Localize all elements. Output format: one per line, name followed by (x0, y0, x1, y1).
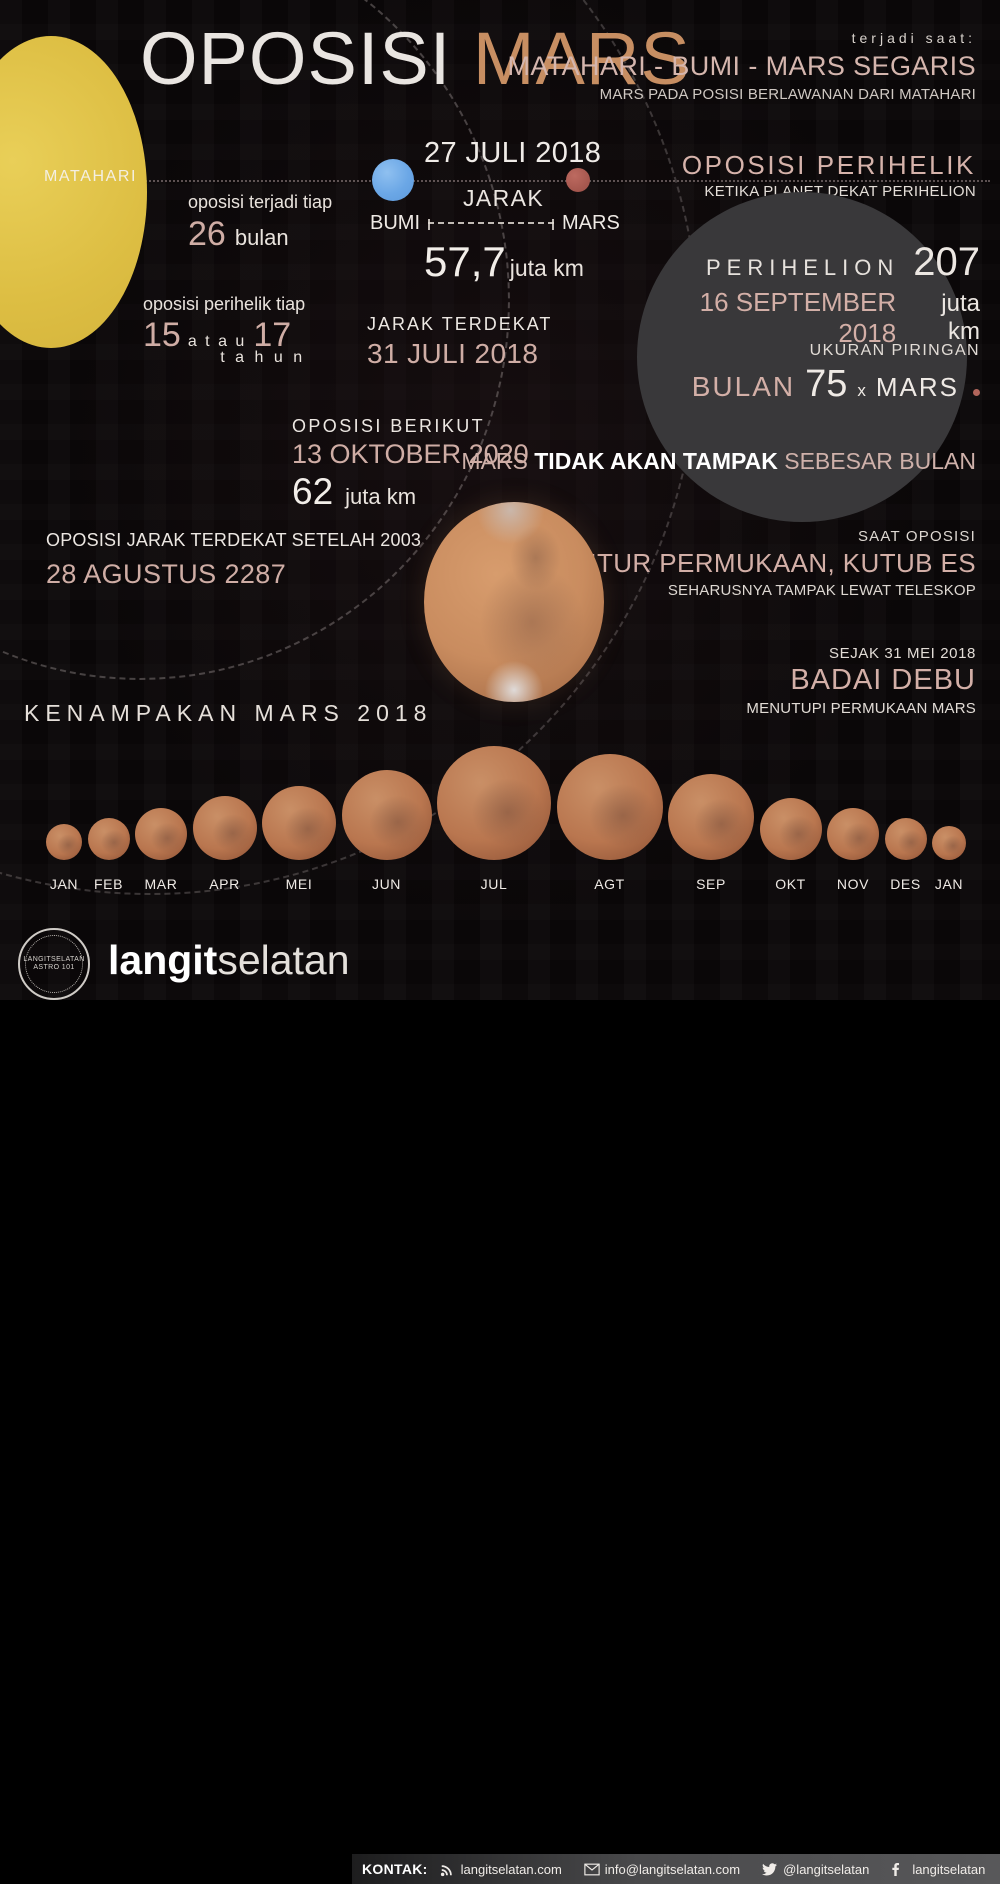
sun-label: MATAHARI (44, 168, 137, 186)
series-item (262, 786, 336, 860)
series-label-apr: APR (193, 876, 257, 896)
mars-disk-mar (135, 808, 187, 860)
mars-disk-jan (932, 826, 966, 860)
series-item (88, 818, 130, 860)
ukuran-piringan-block: UKURAN PIRINGAN BULAN 75 x MARS (660, 342, 980, 406)
perihelion-unit: juta km (910, 290, 980, 346)
series-label-okt: OKT (760, 876, 822, 896)
oposisi-tiap-value: 26 (188, 215, 226, 254)
contact-text: @langitselatan (783, 1862, 869, 1877)
series-label-agt: AGT (557, 876, 663, 896)
contact-text: langitselatan (912, 1862, 985, 1877)
tampak-post: SEBESAR BULAN (778, 448, 976, 474)
series-item (827, 808, 879, 860)
contact-text: langitselatan.com (461, 1862, 562, 1877)
teleskop-sub: SEHARUSNYA TAMPAK LEWAT TELESKOP (573, 582, 976, 599)
jarak-word-label: JARAK (463, 185, 544, 212)
header-sub-line: MARS PADA POSISI BERLAWANAN DARI MATAHAR… (507, 86, 976, 103)
oposisi-berikut-unit: juta km (345, 484, 416, 510)
series-item (885, 818, 927, 860)
header-right-block: terjadi saat: MATAHARI - BUMI - MARS SEG… (507, 30, 976, 103)
series-item (46, 824, 82, 860)
mars-size-dot-icon (973, 389, 980, 396)
series-item (342, 770, 432, 860)
mars-disk-apr (193, 796, 257, 860)
ukuran-x-symbol: x (857, 381, 866, 401)
tampak-strong: TIDAK AKAN TAMPAK (534, 448, 778, 474)
oposisi-berikut-block: OPOSISI BERIKUT 13 OKTOBER 2020 62 juta … (292, 416, 529, 513)
series-item (668, 774, 754, 860)
mars-disk-sep (668, 774, 754, 860)
badai-debu-block: SEJAK 31 MEI 2018 BADAI DEBU MENUTUPI PE… (746, 645, 976, 717)
oposisi-setelah-date: 28 AGUSTUS 2287 (46, 559, 421, 590)
mars-size-series-labels: JANFEBMARAPRMEIJUNJULAGTSEPOKTNOVDESJAN (46, 876, 966, 896)
mars-disk-jan (46, 824, 82, 860)
series-label-mei: MEI (262, 876, 336, 896)
title-part-oposisi: OPOSISI (140, 17, 451, 100)
ukuran-multiplier: 75 (805, 363, 847, 406)
earth-dot (372, 159, 414, 201)
distance-value-block: 57,7 juta km (424, 238, 584, 286)
mars-disk-jul (437, 746, 551, 860)
contact-text: info@langitselatan.com (605, 1862, 740, 1877)
series-title: KENAMPAKAN MARS 2018 (24, 700, 432, 727)
oposisi-berikut-caption: OPOSISI BERIKUT (292, 416, 529, 437)
header-eyebrow: terjadi saat: (507, 30, 976, 46)
jarak-terdekat-caption: JARAK TERDEKAT (367, 314, 552, 335)
email-icon (584, 1863, 599, 1876)
oposisi-setelah-caption: OPOSISI JARAK TERDEKAT SETELAH 2003 (46, 530, 421, 551)
perihelik-title: OPOSISI PERIHELIK (682, 150, 976, 181)
ukuran-bulan-label: BULAN (692, 371, 795, 403)
perihelik-header-block: OPOSISI PERIHELIK KETIKA PLANET DEKAT PE… (682, 150, 976, 200)
contact-item-twitter[interactable]: @langitselatan (762, 1862, 869, 1877)
series-item (135, 808, 187, 860)
mars-disk-nov (827, 808, 879, 860)
mars-disk-feb (88, 818, 130, 860)
facebook-icon (891, 1863, 906, 1876)
contact-bar: KONTAK: langitselatan.cominfo@langitsela… (352, 1854, 1000, 1884)
jarak-terdekat-date: 31 JULI 2018 (367, 338, 552, 370)
bumi-label: BUMI (370, 212, 420, 235)
contact-item-facebook[interactable]: langitselatan (891, 1862, 985, 1877)
teleskop-caption: SAAT OPOSISI (573, 528, 976, 545)
langitselatan-logo-icon: LANGITSELATAN ASTRO 101 (18, 928, 90, 1000)
perihelion-word: PERIHELION (706, 255, 899, 281)
logo-inner-text: LANGITSELATAN ASTRO 101 (25, 935, 83, 993)
opposition-date: 27 JULI 2018 (424, 137, 601, 170)
series-label-jan: JAN (932, 876, 966, 896)
series-item (193, 796, 257, 860)
header-main-line: MATAHARI - BUMI - MARS SEGARIS (507, 51, 976, 82)
brand-wordmark: langitselatan (108, 940, 350, 981)
mars-disk-okt (760, 798, 822, 860)
series-label-des: DES (885, 876, 927, 896)
perihelion-block: PERIHELION 207 16 SEPTEMBER 2018 juta km (660, 240, 980, 349)
wordmark-bold: langit (108, 937, 217, 983)
oposisi-tiap-unit: bulan (235, 225, 289, 251)
mars-disk-jun (342, 770, 432, 860)
series-label-mar: MAR (135, 876, 187, 896)
contact-item-email[interactable]: info@langitselatan.com (584, 1862, 740, 1877)
footer: LANGITSELATAN ASTRO 101 langitselatan KO… (0, 918, 1000, 1000)
kontak-label: KONTAK: (362, 1861, 428, 1877)
series-label-nov: NOV (827, 876, 879, 896)
mars-photo (424, 502, 604, 702)
oposisi-berikut-value: 62 (292, 471, 333, 513)
perihelik-tiap-value-1: 15 (143, 316, 181, 355)
distance-number: 57,7 (424, 238, 506, 286)
mars-label: MARS (562, 212, 620, 235)
series-item (932, 826, 966, 860)
twitter-icon (762, 1863, 777, 1876)
series-label-jun: JUN (342, 876, 432, 896)
contact-item-rss[interactable]: langitselatan.com (440, 1862, 562, 1877)
ukuran-caption: UKURAN PIRINGAN (660, 342, 980, 360)
mars-disk-mei (262, 786, 336, 860)
teleskop-main: FITUR PERMUKAAN, KUTUB ES (573, 548, 976, 579)
mars-dot (566, 168, 590, 192)
mars-disk-des (885, 818, 927, 860)
rss-icon (440, 1863, 455, 1876)
oposisi-berikut-date: 13 OKTOBER 2020 (292, 439, 529, 470)
series-item (760, 798, 822, 860)
oposisi-setelah-block: OPOSISI JARAK TERDEKAT SETELAH 2003 28 A… (46, 530, 421, 590)
distance-arrow-icon (428, 222, 554, 224)
teleskop-block: SAAT OPOSISI FITUR PERMUKAAN, KUTUB ES S… (573, 528, 976, 599)
ukuran-mars-label: MARS (876, 372, 959, 403)
mars-size-series (46, 760, 966, 860)
perihelion-date: 16 SEPTEMBER 2018 (660, 287, 896, 349)
badai-sub: MENUTUPI PERMUKAAN MARS (746, 700, 976, 717)
jarak-terdekat-block: JARAK TERDEKAT 31 JULI 2018 (367, 314, 552, 370)
series-label-feb: FEB (88, 876, 130, 896)
oposisi-tiap-block: oposisi terjadi tiap 26 bulan (188, 192, 332, 254)
tampak-statement: MARS TIDAK AKAN TAMPAK SEBESAR BULAN (461, 448, 976, 475)
perihelik-tiap-block: oposisi perihelik tiap 15 a t a u 17 t a… (143, 294, 305, 367)
badai-main: BADAI DEBU (746, 664, 976, 697)
mars-disk-agt (557, 754, 663, 860)
series-label-sep: SEP (668, 876, 754, 896)
perihelik-tiap-caption: oposisi perihelik tiap (143, 294, 305, 315)
series-label-jan: JAN (46, 876, 82, 896)
wordmark-light: selatan (217, 937, 349, 983)
series-item (437, 746, 551, 860)
series-item (557, 754, 663, 860)
badai-caption: SEJAK 31 MEI 2018 (746, 645, 976, 662)
distance-unit: juta km (510, 255, 584, 282)
perihelion-value: 207 (913, 240, 980, 285)
oposisi-tiap-caption: oposisi terjadi tiap (188, 192, 332, 213)
series-label-jul: JUL (437, 876, 551, 896)
